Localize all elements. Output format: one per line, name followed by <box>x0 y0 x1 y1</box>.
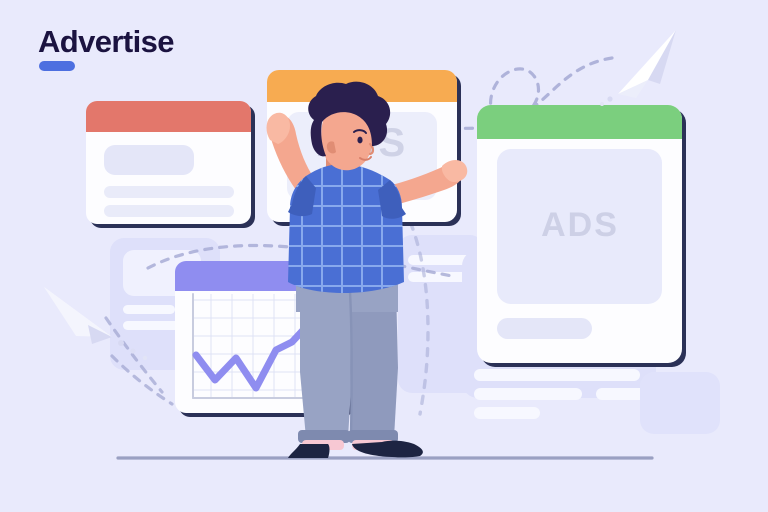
accent-underline <box>39 61 75 71</box>
page-title: Advertise <box>38 24 174 59</box>
eye <box>357 137 362 144</box>
advertise-illustration: ADS ADS <box>0 0 768 512</box>
ad-card-red[interactable] <box>86 101 255 228</box>
ads-label-green: ADS <box>541 206 619 244</box>
ghost-card-far-right <box>640 372 720 434</box>
illustration-canvas: ADS ADS <box>0 0 768 512</box>
ad-card-green[interactable]: ADS <box>477 105 686 367</box>
